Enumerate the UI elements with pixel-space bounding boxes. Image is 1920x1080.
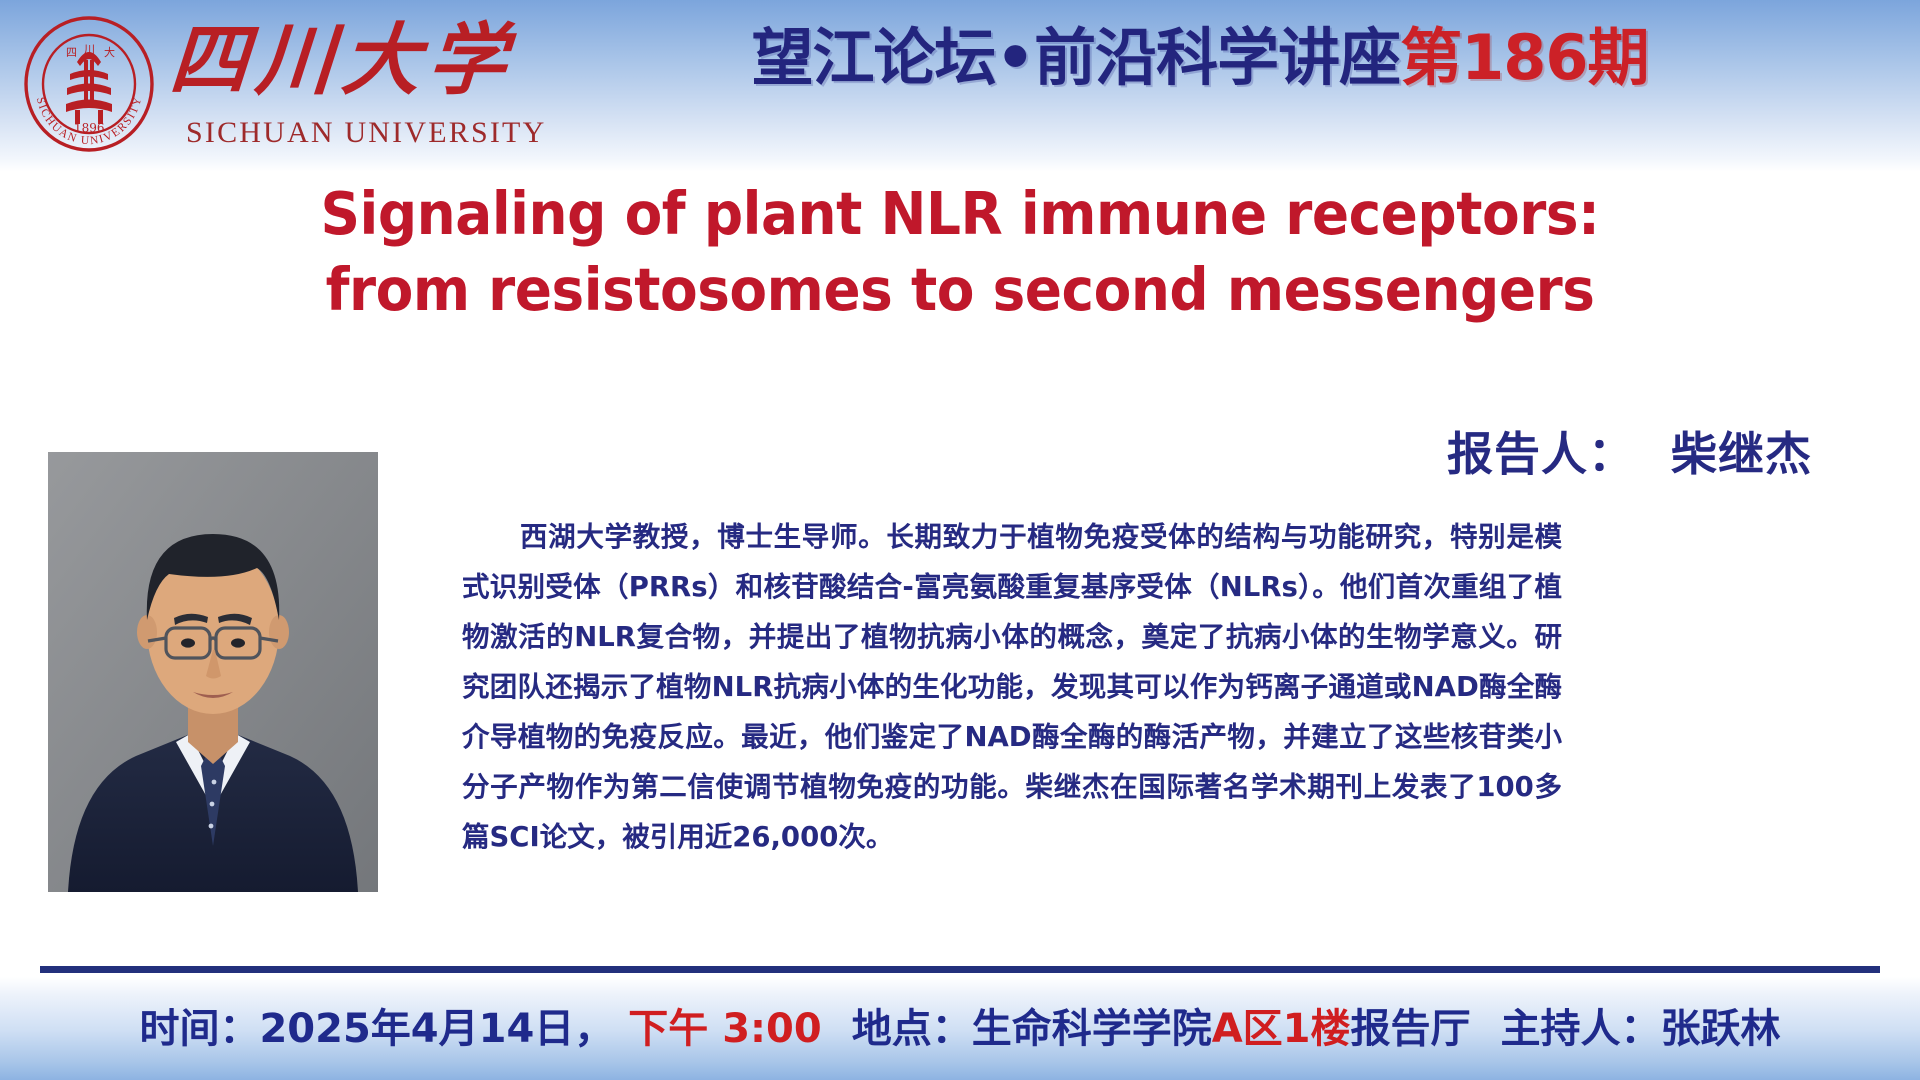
speaker-photo <box>48 452 378 892</box>
time-label: 时间： <box>139 1006 259 1052</box>
banner-series-text: 望江论坛•前沿科学讲座 <box>751 21 1400 94</box>
footer-divider <box>40 966 1880 973</box>
poster-header: 四 川 大 1896 SICHUAN UNIVERSITY 四川大学 SICHU… <box>0 0 1920 172</box>
place-part1: 生命科学学院 <box>972 1006 1212 1052</box>
place-part2: 报告厅 <box>1351 1006 1471 1052</box>
banner-issue-text: 第186期 <box>1400 21 1648 94</box>
university-name-en: SICHUAN UNIVERSITY <box>186 116 546 150</box>
speaker-line: 报告人：柴继杰 <box>1447 418 1812 484</box>
speaker-bio: 西湖大学教授，博士生导师。长期致力于植物免疫受体的结构与功能研究，特别是模式识别… <box>462 512 1562 862</box>
host-label: 主持人： <box>1501 1006 1661 1052</box>
page-title: Signaling of plant NLR immune receptors:… <box>67 176 1853 327</box>
speaker-name: 柴继杰 <box>1671 427 1812 481</box>
event-date: 2025年4月14日， <box>259 1006 614 1052</box>
footer-info-line: 时间：2025年4月14日，下午 3:00地点：生命科学学院A区1楼报告厅主持人… <box>0 996 1920 1054</box>
svg-text:1896: 1896 <box>74 121 105 135</box>
speaker-label: 报告人： <box>1447 427 1635 481</box>
title-line-2: from resistosomes to second messengers <box>67 252 1853 328</box>
place-label: 地点： <box>852 1006 972 1052</box>
banner-title: 望江论坛•前沿科学讲座第186期 <box>0 22 1920 93</box>
host-name: 张跃林 <box>1661 1006 1781 1052</box>
event-time: 下午 3:00 <box>628 1006 821 1052</box>
seminar-poster: 四 川 大 1896 SICHUAN UNIVERSITY 四川大学 SICHU… <box>0 0 1920 1080</box>
title-line-1: Signaling of plant NLR immune receptors: <box>67 176 1853 252</box>
place-highlight: A区1楼 <box>1212 1006 1351 1052</box>
